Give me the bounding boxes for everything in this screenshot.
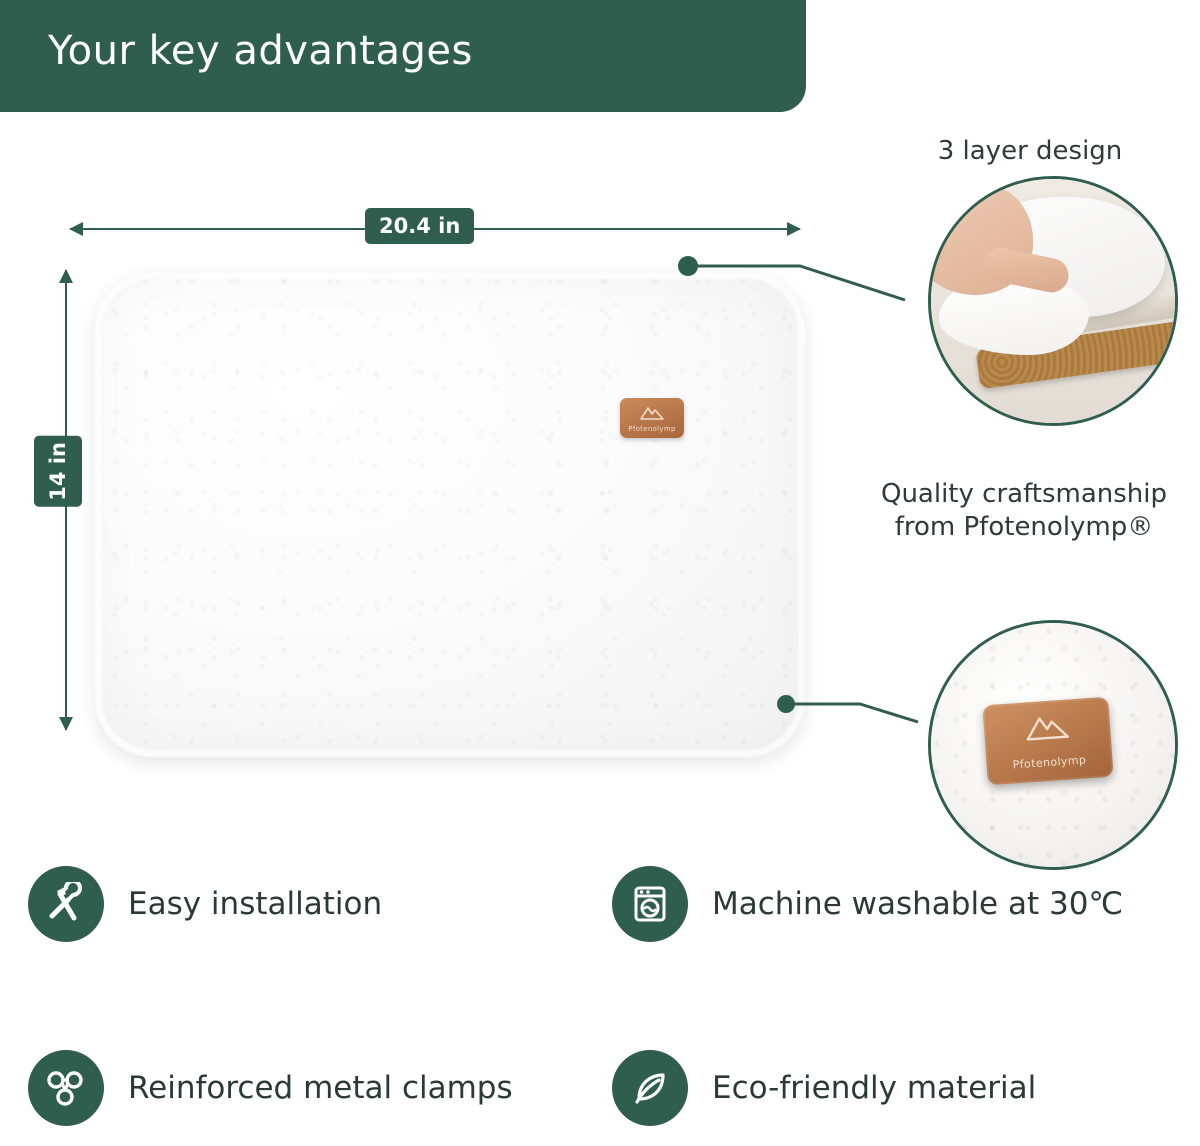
height-dimension-label: 14 in xyxy=(34,436,82,507)
feature-label: Eco-friendly material xyxy=(712,1070,1036,1106)
feature-label: Machine washable at 30℃ xyxy=(712,886,1123,922)
infographic-root: Your key advantages 20.4 in 14 in Pfoten… xyxy=(0,0,1200,1146)
washing-machine-icon xyxy=(612,866,688,942)
callout-image-layers xyxy=(928,176,1178,426)
callout-title-quality: Quality craftsmanship from Pfotenolymp® xyxy=(850,478,1198,543)
clamps-icon xyxy=(28,1050,104,1126)
mountain-icon xyxy=(1023,711,1071,742)
callout-image-label: Pfotenolymp xyxy=(928,620,1178,870)
leather-patch: Pfotenolymp xyxy=(982,697,1113,786)
feature-label: Reinforced metal clamps xyxy=(128,1070,513,1106)
feature-easy-installation: Easy installation xyxy=(28,866,382,942)
feature-metal-clamps: Reinforced metal clamps xyxy=(28,1050,513,1126)
width-dimension-label: 20.4 in xyxy=(365,208,474,244)
layered-mat-photo xyxy=(931,179,1175,423)
product-mat-image xyxy=(95,272,805,757)
page-title: Your key advantages xyxy=(48,28,473,74)
feature-eco-friendly: Eco-friendly material xyxy=(612,1050,1036,1126)
feature-label: Easy installation xyxy=(128,886,382,922)
header-banner: Your key advantages xyxy=(0,0,806,112)
tools-icon xyxy=(28,866,104,942)
mat-brand-label-text: Pfotenolymp xyxy=(620,425,684,433)
mountain-icon xyxy=(639,405,665,421)
leather-patch-text: Pfotenolymp xyxy=(986,752,1113,774)
leaf-icon xyxy=(612,1050,688,1126)
callout-title-layers: 3 layer design xyxy=(880,136,1180,166)
leather-label-photo: Pfotenolymp xyxy=(931,623,1175,867)
mat-brand-label: Pfotenolymp xyxy=(620,398,684,438)
mat-edge-highlight xyxy=(95,272,805,757)
feature-machine-washable: Machine washable at 30℃ xyxy=(612,866,1123,942)
